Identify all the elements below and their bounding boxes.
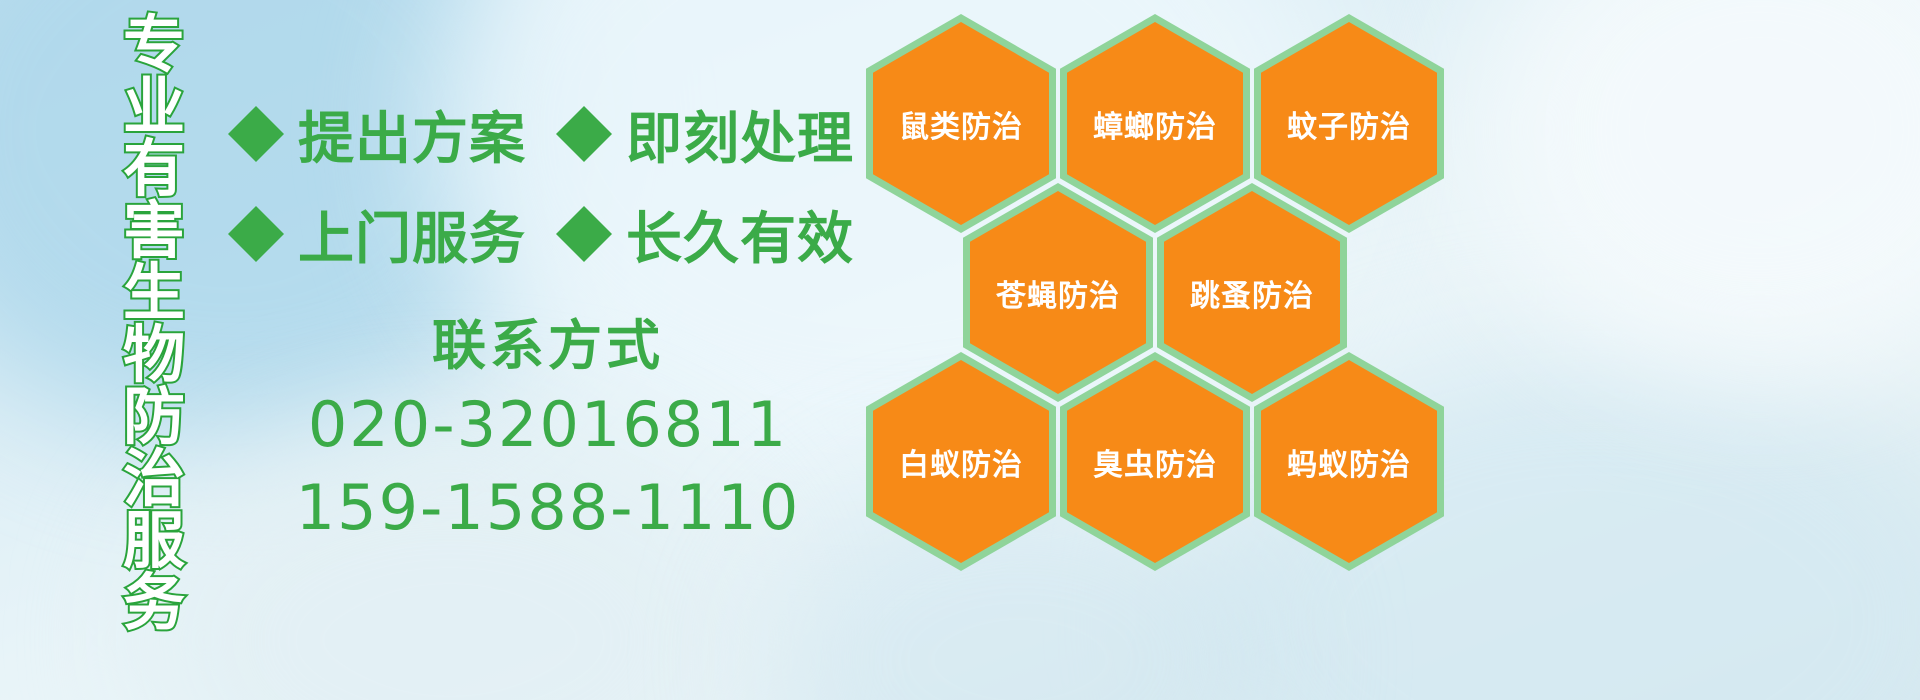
vertical-title-char: 有: [123, 138, 185, 200]
service-hexagon-fly[interactable]: 苍蝇防治: [963, 183, 1153, 402]
service-hexagon-rodent[interactable]: 鼠类防治: [866, 14, 1056, 233]
feature-label: 上门服务: [298, 194, 526, 275]
service-hexagon-cockroach[interactable]: 蟑螂防治: [1060, 14, 1250, 233]
vertical-title-char: 务: [123, 572, 185, 634]
service-hexagon-label: 苍蝇防治: [996, 271, 1120, 315]
service-hexagon-label: 蚂蚁防治: [1287, 440, 1411, 484]
vertical-title-char: 防: [123, 386, 185, 448]
contact-block: 联系方式 020-32016811 159-1588-1110: [228, 312, 868, 547]
pest-control-banner: 专 业 有 害 生 物 防 治 服 务 提出方案 即刻处理 上门服务: [0, 0, 1920, 700]
vertical-title: 专 业 有 害 生 物 防 治 服 务: [108, 14, 200, 562]
vertical-title-char: 服: [123, 510, 185, 572]
vertical-title-char: 生: [123, 262, 185, 324]
hexagon-inner: 苍蝇防治: [970, 191, 1146, 394]
feature-item-propose-plan: 提出方案: [228, 94, 526, 175]
service-hexagon-label: 鼠类防治: [899, 102, 1023, 146]
feature-label: 即刻处理: [626, 94, 854, 175]
service-hexagon-label: 蟑螂防治: [1093, 102, 1217, 146]
vertical-title-char: 治: [123, 448, 185, 510]
feature-item-immediate-handling: 即刻处理: [556, 94, 854, 175]
service-hexagon-termite[interactable]: 白蚁防治: [866, 352, 1056, 571]
contact-phone-mobile[interactable]: 159-1588-1110: [228, 469, 868, 547]
service-hexagon-label: 跳蚤防治: [1190, 271, 1314, 315]
hexagon-inner: 臭虫防治: [1067, 360, 1243, 563]
service-hexagon-flea[interactable]: 跳蚤防治: [1157, 183, 1347, 402]
diamond-icon: [228, 78, 284, 134]
feature-row: 提出方案 即刻处理: [228, 84, 868, 184]
hexagon-inner: 鼠类防治: [873, 22, 1049, 225]
service-hexagon-label: 白蚁防治: [899, 440, 1023, 484]
hexagon-inner: 蟑螂防治: [1067, 22, 1243, 225]
contact-title: 联系方式: [228, 312, 868, 380]
service-hexagon-label: 臭虫防治: [1093, 440, 1217, 484]
feature-label: 提出方案: [298, 94, 526, 175]
feature-label: 长久有效: [626, 194, 854, 275]
service-hexagon-grid: 鼠类防治 蟑螂防治 蚊子防治 苍蝇防治 跳蚤防治 白蚁防治: [866, 6, 1446, 566]
feature-row: 上门服务 长久有效: [228, 184, 868, 284]
hexagon-inner: 跳蚤防治: [1164, 191, 1340, 394]
service-hexagon-mosquito[interactable]: 蚊子防治: [1254, 14, 1444, 233]
feature-item-onsite-service: 上门服务: [228, 194, 526, 275]
vertical-title-char: 害: [123, 200, 185, 262]
diamond-icon: [556, 78, 612, 134]
hexagon-inner: 白蚁防治: [873, 360, 1049, 563]
service-hexagon-bedbug[interactable]: 臭虫防治: [1060, 352, 1250, 571]
service-hexagon-label: 蚊子防治: [1287, 102, 1411, 146]
background-blob: [1480, 0, 1920, 380]
hexagon-inner: 蚊子防治: [1261, 22, 1437, 225]
diamond-icon: [556, 178, 612, 234]
feature-item-long-lasting: 长久有效: [556, 194, 854, 275]
contact-phone-landline[interactable]: 020-32016811: [228, 386, 868, 464]
diamond-icon: [228, 178, 284, 234]
feature-list: 提出方案 即刻处理 上门服务 长久有效: [228, 84, 868, 284]
vertical-title-char: 专: [123, 14, 185, 76]
service-hexagon-ant[interactable]: 蚂蚁防治: [1254, 352, 1444, 571]
vertical-title-char: 物: [123, 324, 185, 386]
hexagon-inner: 蚂蚁防治: [1261, 360, 1437, 563]
vertical-title-char: 业: [123, 76, 185, 138]
